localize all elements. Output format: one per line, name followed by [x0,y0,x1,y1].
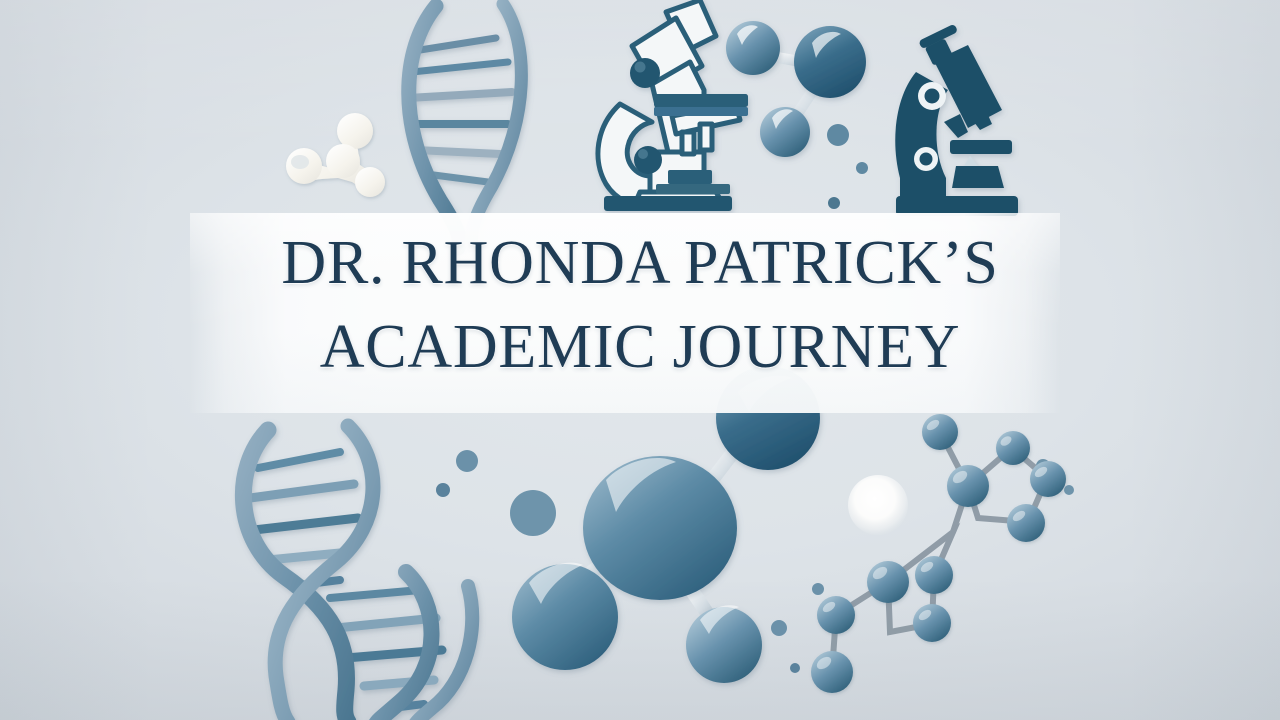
dna-helix-bottom-left-icon [243,426,472,720]
page-title-line-2: ACADEMIC JOURNEY [320,316,961,378]
molecule-ring-structure-icon [811,414,1066,693]
glow-orb-icon [848,475,908,535]
molecule-white-trefoil-icon [286,113,385,197]
microscope-outline-icon [598,0,748,211]
page-title-line-1: DR. RHONDA PATRICK’S [281,232,998,294]
dna-helix-top-icon [408,4,521,248]
molecule-large-center-icon [512,366,820,683]
microscope-solid-icon [895,24,1018,216]
title-card: DR. RHONDA PATRICK’S ACADEMIC JOURNEY [0,0,1280,720]
